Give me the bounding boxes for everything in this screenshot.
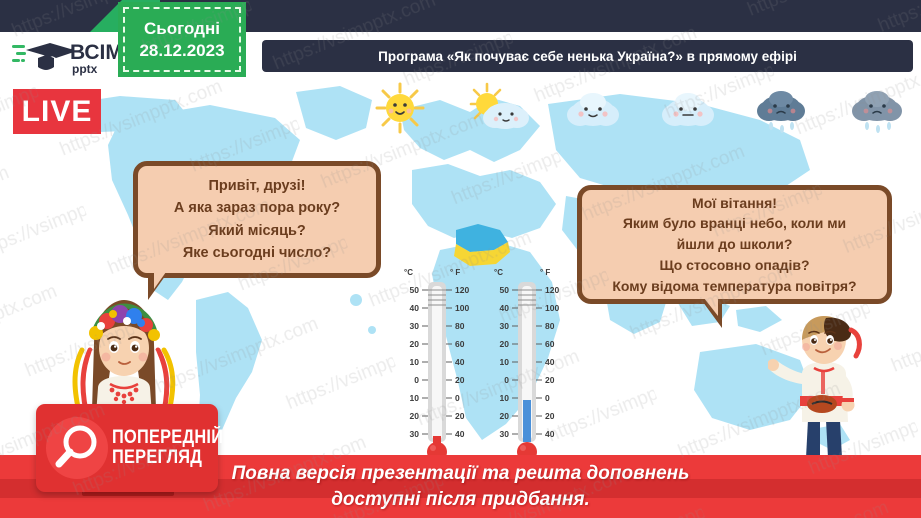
svg-text:30: 30 [410,429,420,439]
svg-text:60: 60 [455,339,465,349]
speech-bubble-left: Привіт, друзі! А яка зараз пора року? Як… [133,161,381,278]
preview-badge[interactable]: ПОПЕРЕДНІЙ ПЕРЕГЛЯД [36,404,218,492]
svg-text:20: 20 [455,375,465,385]
boy-in-ukrainian-costume [768,312,883,472]
svg-text:0: 0 [545,393,550,403]
thermometer-empty: °C ° F 504030 20100 [398,264,476,464]
live-badge: LIVE [13,89,101,134]
speed-lines-icon [12,45,26,62]
svg-text:40: 40 [500,303,510,313]
svg-text:20: 20 [500,339,510,349]
rain-cloud-icon [847,82,917,134]
celsius-label: °C [494,268,503,277]
svg-text:40: 40 [545,357,555,367]
svg-text:0: 0 [504,375,509,385]
celsius-ticks: 504030 20100 102030 [410,285,420,439]
today-date: 28.12.2023 [139,40,224,61]
magnifier-icon [44,415,110,481]
svg-text:20: 20 [455,411,465,421]
today-date-badge: Сьогодні 28.12.2023 [118,2,246,77]
svg-text:10: 10 [410,393,420,403]
bubble-right-line-1: Мої вітання! [692,193,777,214]
sun-behind-cloud-icon [467,82,537,134]
header-title-banner: Програма «Як почуває себе ненька Україна… [262,40,913,72]
svg-text:10: 10 [410,357,420,367]
weather-icon-row [372,82,917,134]
speech-bubble-left-tail-fill [154,272,166,289]
celsius-label: °C [404,268,413,277]
svg-text:40: 40 [455,357,465,367]
bubble-right-line-3: йшли до школи? [677,234,793,255]
svg-text:40: 40 [545,429,555,439]
svg-text:100: 100 [545,303,559,313]
svg-text:50: 50 [410,285,420,295]
svg-text:20: 20 [500,411,510,421]
cloud-icon [562,82,632,134]
preview-line-2: ПЕРЕГЛЯД [112,448,223,468]
svg-text:0: 0 [414,375,419,385]
svg-text:100: 100 [455,303,469,313]
svg-text:80: 80 [455,321,465,331]
cloud-icon [657,82,727,134]
svg-text:20: 20 [410,411,420,421]
rain-cloud-icon [752,82,822,134]
banner-line-2: доступні після придбання. [331,487,590,512]
svg-text:20: 20 [410,339,420,349]
today-label: Сьогодні [144,18,220,39]
bubble-right-line-5: Кому відома температура повітря? [612,276,856,297]
svg-text:20: 20 [545,375,555,385]
celsius-ticks: 504030 20100 102030 [500,285,510,439]
svg-text:10: 10 [500,357,510,367]
bubble-left-line-1: Привіт, друзі! [208,175,305,197]
bubble-left-line-4: Яке сьогодні число? [183,242,331,264]
svg-text:60: 60 [545,339,555,349]
brand-logo[interactable]: ВСІМ pptx [12,33,122,79]
svg-text:80: 80 [545,321,555,331]
fahrenheit-ticks: 12010080 604020 02040 [455,285,469,439]
speech-bubble-right-tail-fill [704,298,718,316]
bubble-right-line-2: Яким було вранці небо, коли ми [623,213,846,234]
sun-icon [372,82,442,134]
page-title: Програма «Як почуває себе ненька Україна… [378,49,797,64]
svg-text:120: 120 [545,285,559,295]
svg-text:120: 120 [455,285,469,295]
thermometer-cold: °C ° F 504030 [488,264,566,464]
logo-name: ВСІМ [70,41,122,64]
banner-line-1: Повна версія презентації та решта доповн… [232,461,690,486]
logo-sub: pptx [72,62,98,76]
svg-text:50: 50 [500,285,510,295]
svg-text:10: 10 [500,393,510,403]
fahrenheit-label: ° F [540,268,550,277]
slide-canvas: ВСІМ pptx Сьогодні 28.12.2023 LIVE Прогр… [0,0,921,518]
fahrenheit-label: ° F [450,268,460,277]
speech-bubble-right: Мої вітання! Яким було вранці небо, коли… [577,185,892,304]
graduation-cap-icon [26,43,74,70]
preview-line-1: ПОПЕРЕДНІЙ [112,428,223,448]
bubble-left-line-3: Який місяць? [208,220,306,242]
fahrenheit-ticks: 12010080 604020 02040 [545,285,559,439]
svg-text:40: 40 [410,303,420,313]
bubble-left-line-2: А яка зараз пора року? [174,197,340,219]
bubble-right-line-4: Що стосовно опадів? [659,255,809,276]
preview-badge-text: ПОПЕРЕДНІЙ ПЕРЕГЛЯД [112,428,223,468]
svg-text:0: 0 [455,393,460,403]
svg-text:30: 30 [500,321,510,331]
svg-text:20: 20 [545,411,555,421]
svg-text:30: 30 [410,321,420,331]
svg-text:30: 30 [500,429,510,439]
svg-text:40: 40 [455,429,465,439]
